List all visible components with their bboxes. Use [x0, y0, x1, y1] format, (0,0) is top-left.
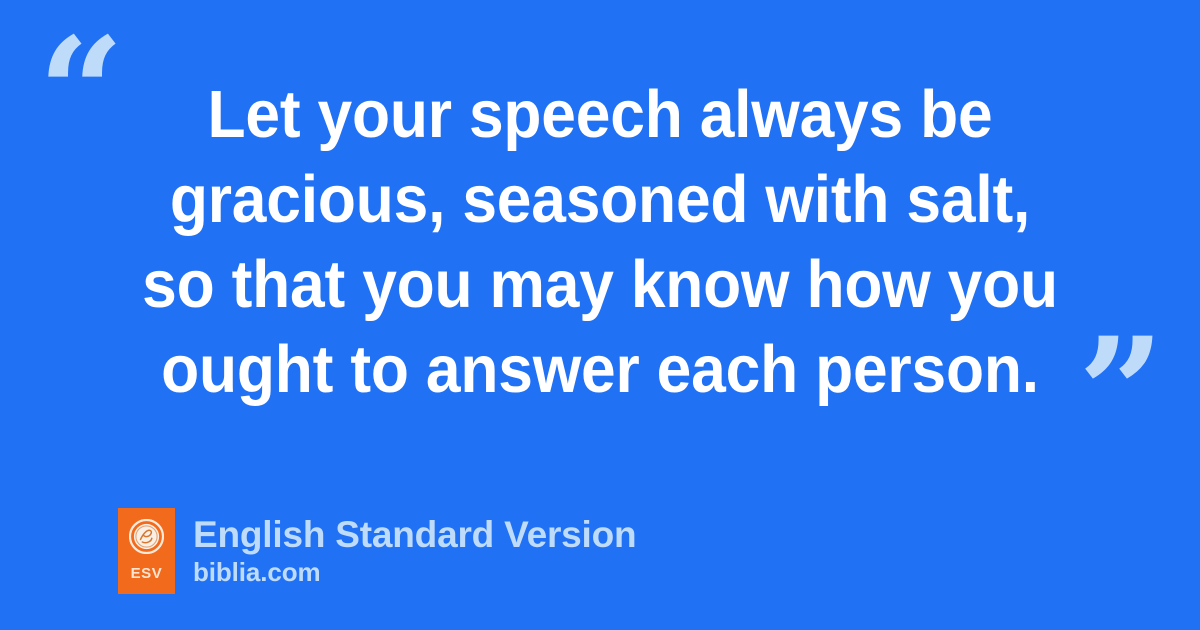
- quote-line: Let your speech always be: [107, 72, 1093, 157]
- quote-line: so that you may know how you: [107, 242, 1093, 327]
- esv-badge-label: ESV: [131, 566, 163, 581]
- quote-line: gracious, seasoned with salt,: [107, 157, 1093, 242]
- quote-text-block: Let your speech always be gracious, seas…: [70, 72, 1130, 412]
- attribution: ESV English Standard Version biblia.com: [118, 508, 636, 594]
- esv-crown-seal-icon: [129, 519, 164, 554]
- site-url-label: biblia.com: [193, 557, 636, 587]
- esv-logo-badge: ESV: [118, 508, 175, 594]
- attribution-text-group: English Standard Version biblia.com: [193, 515, 636, 587]
- bible-verse-share-card: “ Let your speech always be gracious, se…: [0, 0, 1200, 630]
- closing-quotation-mark-icon: ”: [1078, 318, 1164, 468]
- bible-version-name: English Standard Version: [193, 515, 636, 555]
- quote-line: ought to answer each person.: [107, 327, 1093, 412]
